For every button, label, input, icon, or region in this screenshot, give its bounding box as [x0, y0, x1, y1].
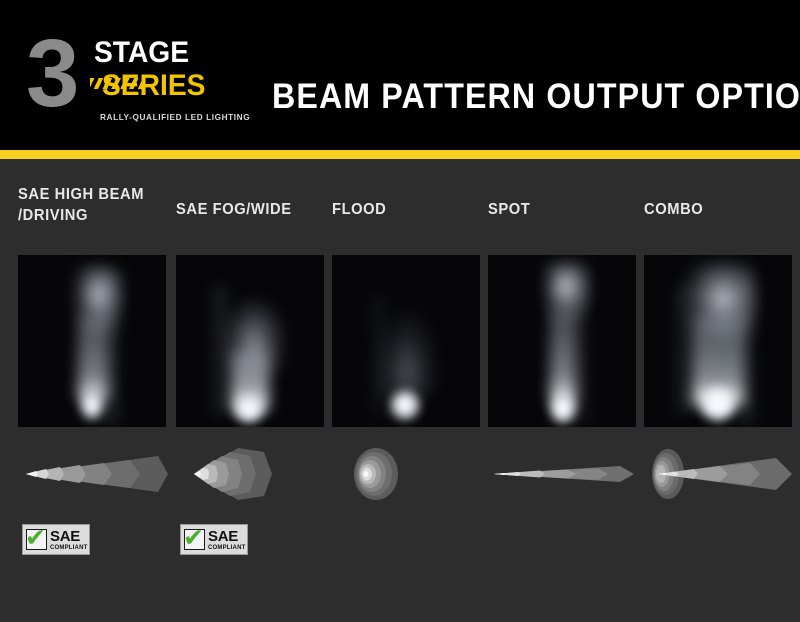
- photo-edge: [576, 273, 590, 423]
- column-label: SAE FOG/WIDE: [176, 199, 333, 220]
- photo-glow: [550, 310, 576, 402]
- brand-numeral: 3: [26, 26, 75, 122]
- column-label-line1: COMBO: [644, 201, 703, 218]
- column-label-line1: SAE HIGH BEAM: [18, 186, 144, 203]
- photo-edge: [206, 285, 226, 415]
- beam-photo: [488, 255, 636, 427]
- column-label-line1: SPOT: [488, 201, 530, 218]
- badge-primary-label: SAE: [50, 529, 87, 544]
- photo-hotspot: [390, 390, 420, 420]
- brand-tagline: RALLY-QUALIFIED LED LIGHTING: [100, 112, 250, 122]
- column-label-line1: FLOOD: [332, 201, 386, 218]
- brand-wordmark: STAGE SERIES RALLY-QUALIFIED LED LIGHTIN…: [94, 38, 259, 102]
- accent-divider: [0, 150, 800, 159]
- beam-pattern-diagram: [176, 444, 336, 504]
- beam-shape-short-wide-cone-icon: [176, 444, 336, 504]
- photo-glow: [78, 315, 108, 400]
- column-sae-high-beam-driving: SAE HIGH BEAM /DRIVING: [18, 159, 166, 622]
- beam-pattern-diagram: [18, 444, 178, 504]
- column-sae-fog-wide: SAE FOG/WIDE: [176, 159, 324, 622]
- page-title: BEAM PATTERN OUTPUT OPTIONS: [272, 78, 800, 116]
- beam-pattern-diagram: [488, 444, 648, 504]
- photo-hotspot: [550, 393, 576, 423]
- column-label-line2: /DRIVING: [18, 207, 88, 224]
- photo-edge: [740, 275, 758, 425]
- beam-shape-wide-fan-plus-long-beam-icon: [644, 444, 800, 504]
- photo-hotspot: [700, 387, 736, 421]
- beam-photo: [332, 255, 480, 427]
- column-spot: SPOT: [488, 159, 636, 622]
- column-label: FLOOD: [332, 199, 489, 220]
- checkbox-icon: ✔: [184, 529, 205, 550]
- check-icon: ✔: [183, 525, 204, 550]
- sae-compliant-badge: ✔ SAE COMPLIANT: [180, 524, 248, 555]
- column-label: SAE HIGH BEAM /DRIVING: [18, 184, 175, 226]
- column-label: SPOT: [488, 199, 645, 220]
- brand-logo: 3 STAGE SERIES RALLY-QUALIFIED LED LIGHT…: [26, 30, 256, 130]
- photo-hotspot: [80, 390, 104, 420]
- beam-pattern-diagram: [644, 444, 800, 504]
- beam-shape-round-blob-icon: [332, 444, 492, 504]
- column-label: COMBO: [644, 199, 800, 220]
- beam-shape-very-long-thin-icon: [488, 444, 648, 504]
- brand-word-stage: STAGE: [94, 38, 249, 68]
- badge-secondary-label: COMPLIANT: [50, 545, 87, 551]
- pattern-columns: SAE HIGH BEAM /DRIVING: [0, 159, 800, 622]
- beam-shape-long-narrow-icon: [18, 444, 178, 504]
- header-bar: 3 STAGE SERIES RALLY-QUALIFIED LED LIGHT…: [0, 0, 800, 150]
- photo-hotspot: [234, 395, 264, 423]
- beam-photo: [18, 255, 166, 427]
- photo-glow: [377, 310, 437, 395]
- beam-photo: [176, 255, 324, 427]
- badge-text: SAE COMPLIANT: [208, 529, 245, 551]
- photo-edge: [368, 295, 384, 415]
- column-combo: COMBO: [644, 159, 792, 622]
- checkbox-icon: ✔: [26, 529, 47, 550]
- brand-word-series: SERIES: [102, 70, 250, 102]
- photo-edge: [670, 285, 688, 415]
- beam-pattern-diagram: [332, 444, 492, 504]
- column-flood: FLOOD: [332, 159, 480, 622]
- check-icon: ✔: [25, 525, 46, 550]
- badge-text: SAE COMPLIANT: [50, 529, 87, 551]
- badge-primary-label: SAE: [208, 529, 245, 544]
- sae-compliant-badge: ✔ SAE COMPLIANT: [22, 524, 90, 555]
- badge-secondary-label: COMPLIANT: [208, 545, 245, 551]
- beam-pattern-infographic: 3 STAGE SERIES RALLY-QUALIFIED LED LIGHT…: [0, 0, 800, 622]
- beam-photo: [644, 255, 792, 427]
- column-label-line1: SAE FOG/WIDE: [176, 201, 292, 218]
- photo-edge: [106, 275, 122, 425]
